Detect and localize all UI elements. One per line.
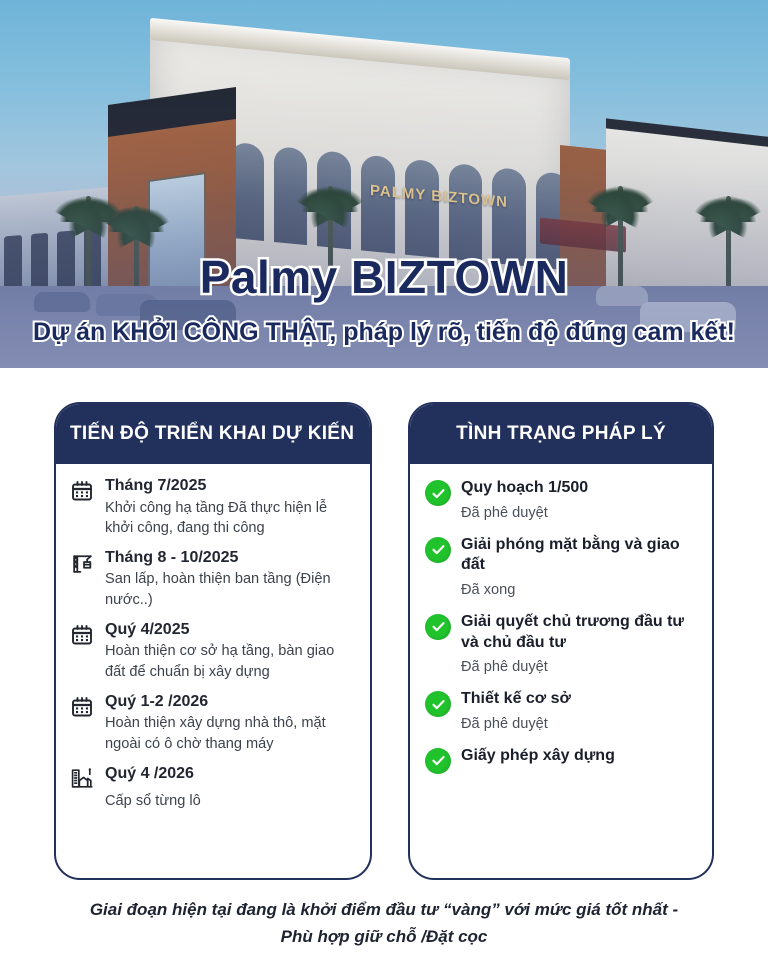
crane-icon — [68, 549, 96, 577]
list-item-text: Thiết kế cơ sở Đã phê duyệt — [461, 689, 698, 735]
progress-card-title: TIẾN ĐỘ TRIỂN KHAI DỰ KIẾN — [56, 404, 370, 464]
calendar-icon — [68, 477, 96, 505]
item-title: Quy hoạch 1/500 — [461, 478, 698, 499]
list-item-text: Quý 4 /2026 Cấp sổ từng lô — [105, 764, 356, 812]
list-item-text: Giải quyết chủ trương đầu tư và chủ đầu … — [461, 612, 698, 678]
item-title: Quý 1-2 /2026 — [105, 692, 356, 712]
item-title: Giấy phép xây dựng — [461, 746, 698, 767]
legal-card: TÌNH TRẠNG PHÁP LÝ Quy hoạch 1/500 Đã ph… — [408, 402, 714, 880]
list-item: Tháng 7/2025 Khởi công hạ tầng Đã thực h… — [68, 476, 356, 539]
list-item: Giấy phép xây dựng — [424, 746, 698, 775]
calendar-icon — [68, 693, 96, 721]
check-circle-icon — [424, 613, 452, 641]
item-title: Giải quyết chủ trương đầu tư và chủ đầu … — [461, 612, 698, 654]
footer-line-1: Giai đoạn hiện tại đang là khởi điểm đầu… — [46, 896, 722, 923]
check-circle-icon — [424, 747, 452, 775]
item-status: Đã phê duyệt — [461, 714, 698, 735]
item-title: Tháng 7/2025 — [105, 476, 356, 496]
list-item: Quý 4/2025 Hoàn thiện cơ sở hạ tầng, bàn… — [68, 620, 356, 683]
legal-card-title: TÌNH TRẠNG PHÁP LÝ — [410, 404, 712, 464]
item-status: Đã xong — [461, 580, 698, 601]
list-item: Thiết kế cơ sở Đã phê duyệt — [424, 689, 698, 735]
item-title: Quý 4/2025 — [105, 620, 356, 640]
item-description: Khởi công hạ tầng Đã thực hiện lễ khởi c… — [105, 498, 356, 539]
list-item-text: Tháng 7/2025 Khởi công hạ tầng Đã thực h… — [105, 476, 356, 539]
footer-line-2: Phù hợp giữ chỗ /Đặt cọc — [46, 923, 722, 950]
hero-overlay — [0, 0, 768, 368]
list-item-text: Quy hoạch 1/500 Đã phê duyệt — [461, 478, 698, 524]
item-title: Thiết kế cơ sở — [461, 689, 698, 710]
list-item: Giải quyết chủ trương đầu tư và chủ đầu … — [424, 612, 698, 678]
hero-title: Palmy BIZTOWN — [0, 250, 768, 304]
footer-note: Giai đoạn hiện tại đang là khởi điểm đầu… — [0, 896, 768, 950]
list-item: Tháng 8 - 10/2025 San lấp, hoàn thiện ba… — [68, 548, 356, 611]
list-item-text: Giấy phép xây dựng — [461, 746, 698, 769]
hero-banner: PALMY BIZTOWN Palmy BIZTOWN Dự án KHỞI C… — [0, 0, 768, 368]
progress-card-body: Tháng 7/2025 Khởi công hạ tầng Đã thực h… — [56, 464, 370, 831]
poster-page: PALMY BIZTOWN Palmy BIZTOWN Dự án KHỞI C… — [0, 0, 768, 960]
check-circle-icon — [424, 690, 452, 718]
hero-subtitle: Dự án KHỞI CÔNG THẬT, pháp lý rõ, tiến đ… — [0, 318, 768, 347]
list-item: Quý 1-2 /2026 Hoàn thiện xây dựng nhà th… — [68, 692, 356, 755]
check-circle-icon — [424, 536, 452, 564]
item-status: Đã phê duyệt — [461, 657, 698, 678]
item-title: Quý 4 /2026 — [105, 764, 356, 784]
calendar-icon — [68, 621, 96, 649]
list-item-text: Quý 1-2 /2026 Hoàn thiện xây dựng nhà th… — [105, 692, 356, 755]
item-title: Tháng 8 - 10/2025 — [105, 548, 356, 568]
list-item: Quý 4 /2026 Cấp sổ từng lô — [68, 764, 356, 812]
list-item: Quy hoạch 1/500 Đã phê duyệt — [424, 478, 698, 524]
list-item: Giải phóng mặt bằng và giao đất Đã xong — [424, 535, 698, 601]
legal-card-body: Quy hoạch 1/500 Đã phê duyệt Giải phóng … — [410, 464, 712, 796]
item-status: Đã phê duyệt — [461, 503, 698, 524]
list-item-text: Tháng 8 - 10/2025 San lấp, hoàn thiện ba… — [105, 548, 356, 611]
item-description: Cấp sổ từng lô — [105, 791, 356, 812]
item-description: Hoàn thiện cơ sở hạ tầng, bàn giao đất đ… — [105, 641, 356, 682]
cards-section: TIẾN ĐỘ TRIỂN KHAI DỰ KIẾN — [0, 368, 768, 888]
list-item-text: Giải phóng mặt bằng và giao đất Đã xong — [461, 535, 698, 601]
item-description: San lấp, hoàn thiện ban tầng (Điện nước.… — [105, 569, 356, 610]
list-item-text: Quý 4/2025 Hoàn thiện cơ sở hạ tầng, bàn… — [105, 620, 356, 683]
check-circle-icon — [424, 479, 452, 507]
progress-card: TIẾN ĐỘ TRIỂN KHAI DỰ KIẾN — [54, 402, 372, 880]
item-title: Giải phóng mặt bằng và giao đất — [461, 535, 698, 577]
building-icon — [68, 765, 96, 793]
item-description: Hoàn thiện xây dựng nhà thô, mặt ngoài c… — [105, 713, 356, 754]
